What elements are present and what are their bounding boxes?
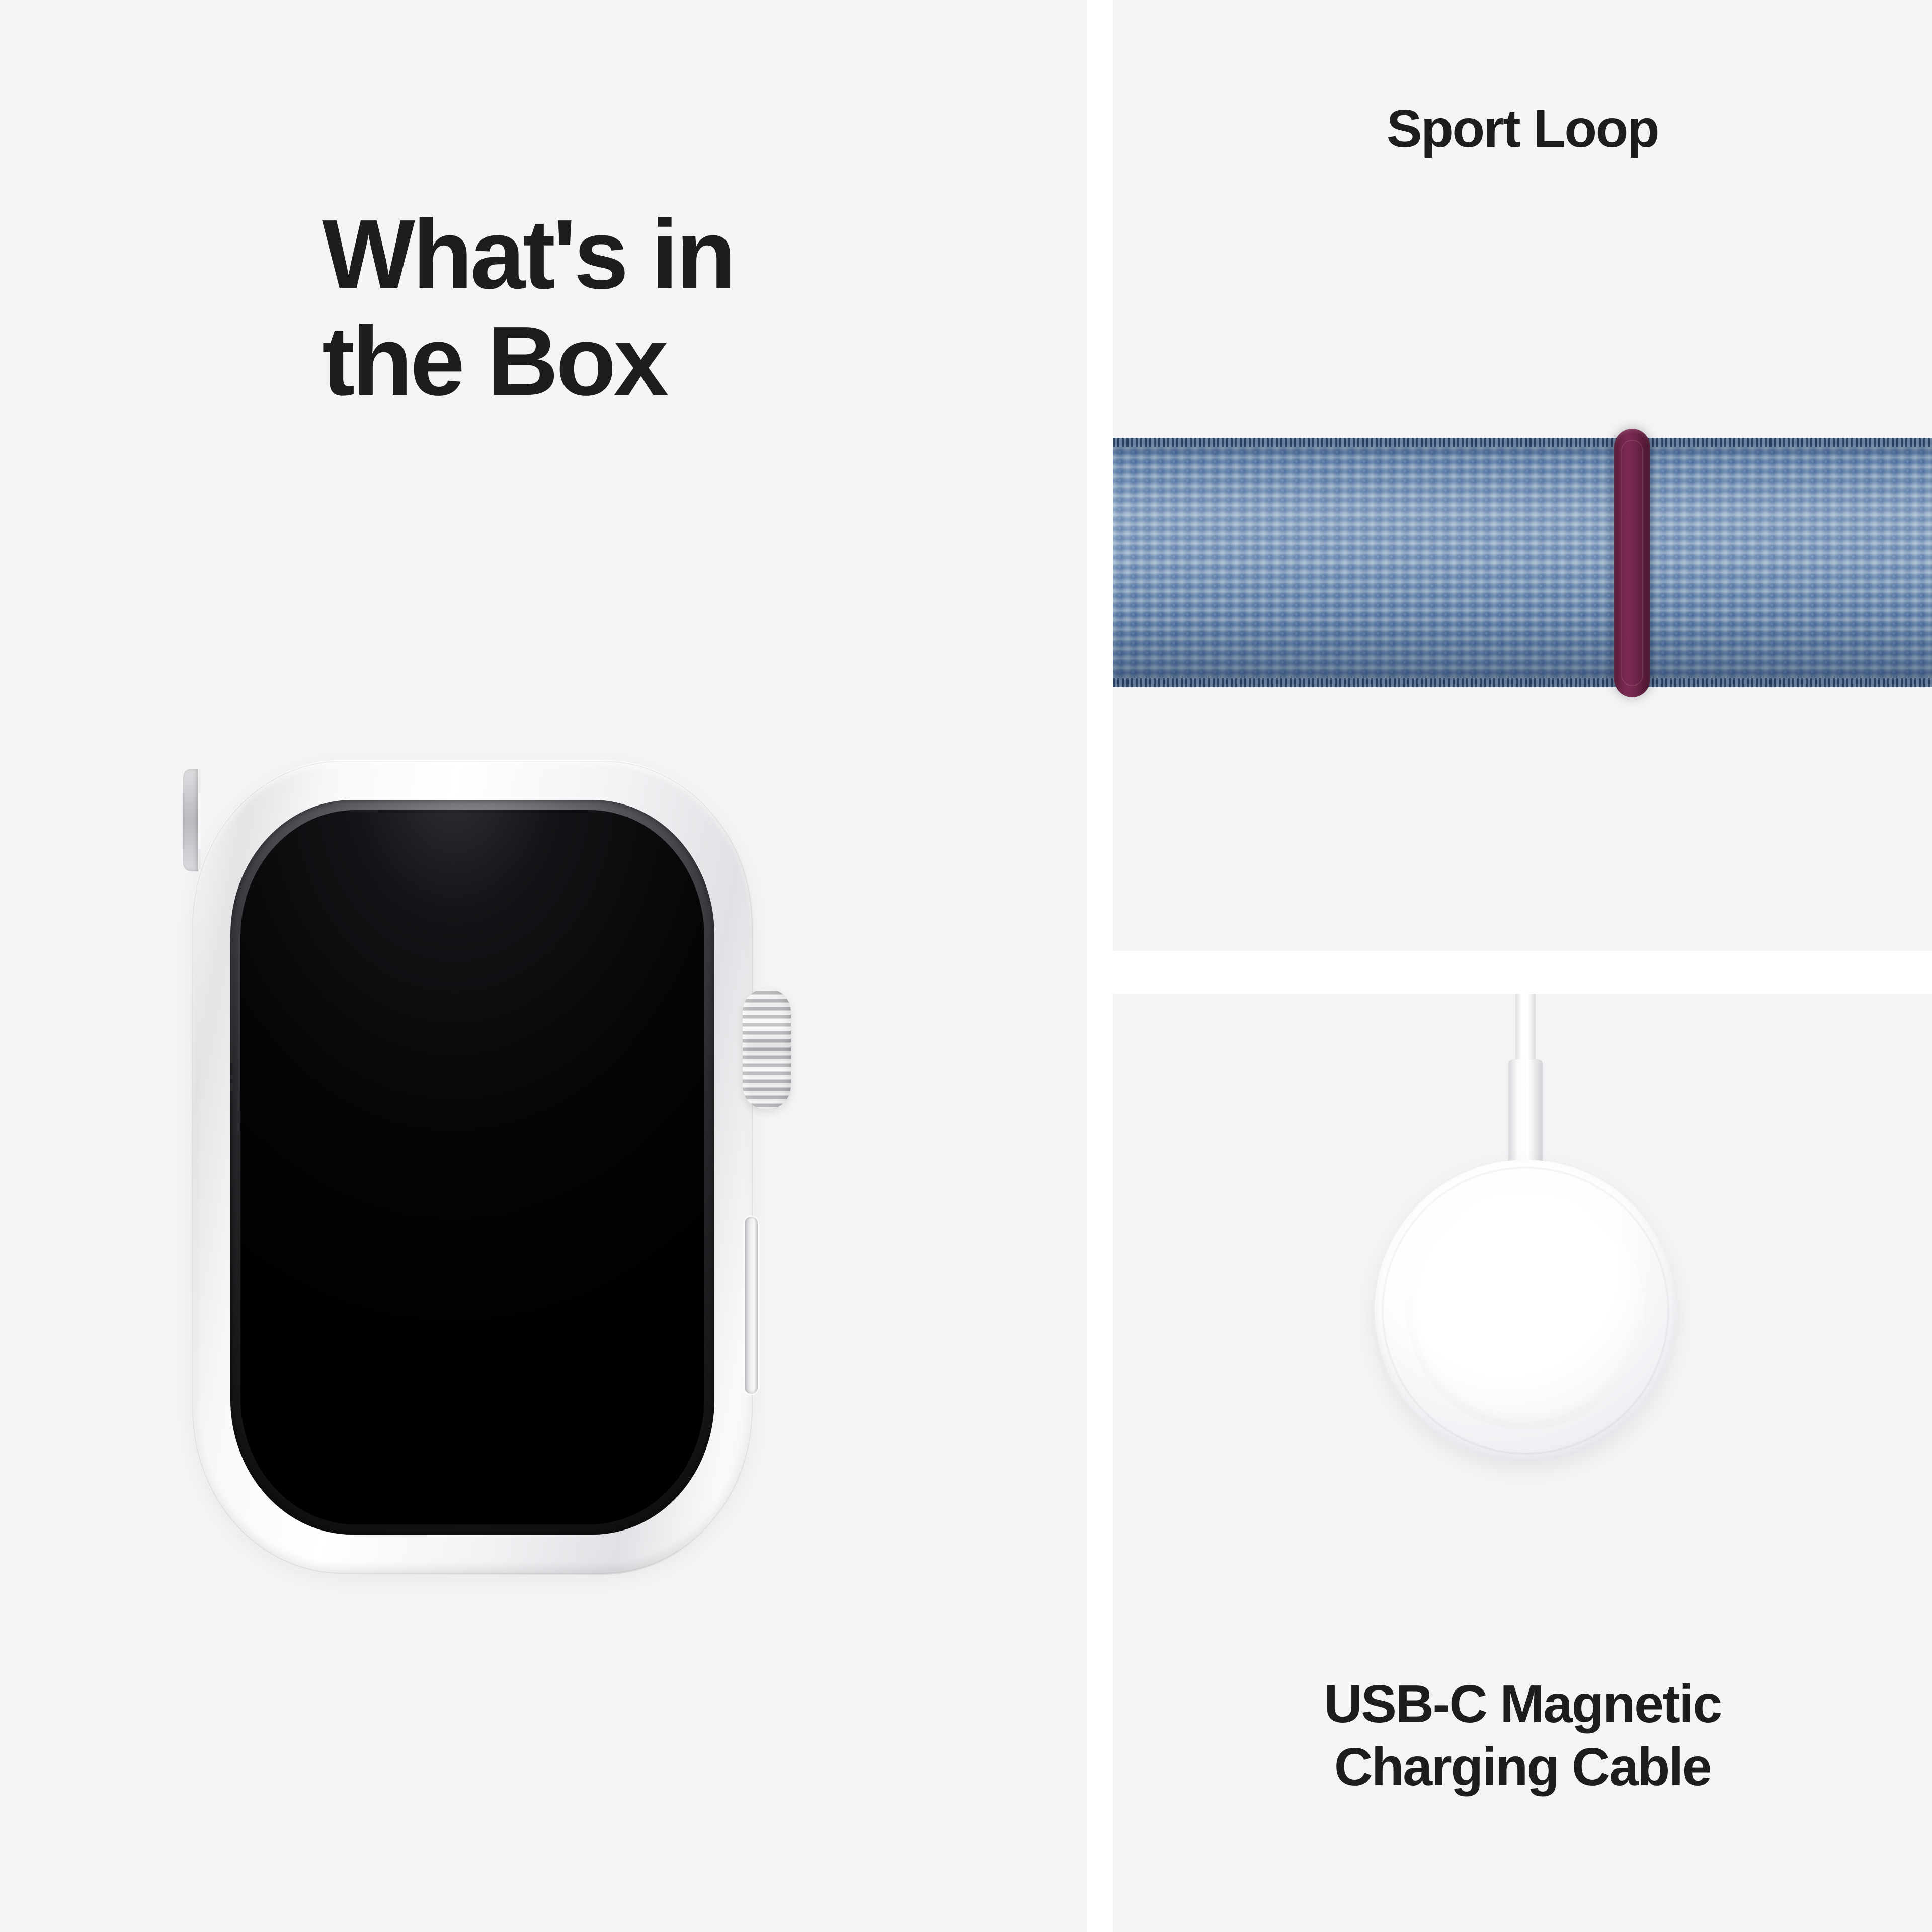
whats-in-the-box-layout: What's in the Box Sport Loop — [0, 0, 1932, 1932]
magnetic-charging-puck — [1375, 1160, 1676, 1462]
watch-display — [240, 810, 704, 1524]
band-edge-bottom — [1113, 678, 1932, 687]
left-panel: What's in the Box — [0, 0, 1087, 1932]
side-button[interactable] — [745, 1217, 758, 1394]
watch-case — [191, 760, 754, 1575]
band-edge-top — [1113, 438, 1932, 447]
sport-loop-label: Sport Loop — [1113, 99, 1932, 159]
cable-strain-relief-collar — [1508, 1059, 1543, 1171]
charging-puck-face — [1407, 1192, 1644, 1429]
charging-cable-panel: USB-C Magnetic Charging Cable — [1113, 994, 1932, 1932]
sport-loop-panel: Sport Loop — [1113, 0, 1932, 951]
digital-crown[interactable] — [743, 989, 791, 1109]
apple-watch — [191, 760, 896, 1575]
sport-loop-band — [1113, 438, 1932, 687]
charging-cable-caption: USB-C Magnetic Charging Cable — [1113, 1673, 1932, 1799]
digital-crown-shaft — [183, 769, 198, 871]
digital-crown-ridges — [743, 989, 791, 1109]
page-title: What's in the Box — [322, 201, 926, 414]
band-accent-tab — [1614, 429, 1650, 697]
band-accent-tab-inner — [1621, 440, 1643, 686]
band-shading — [1113, 438, 1932, 687]
